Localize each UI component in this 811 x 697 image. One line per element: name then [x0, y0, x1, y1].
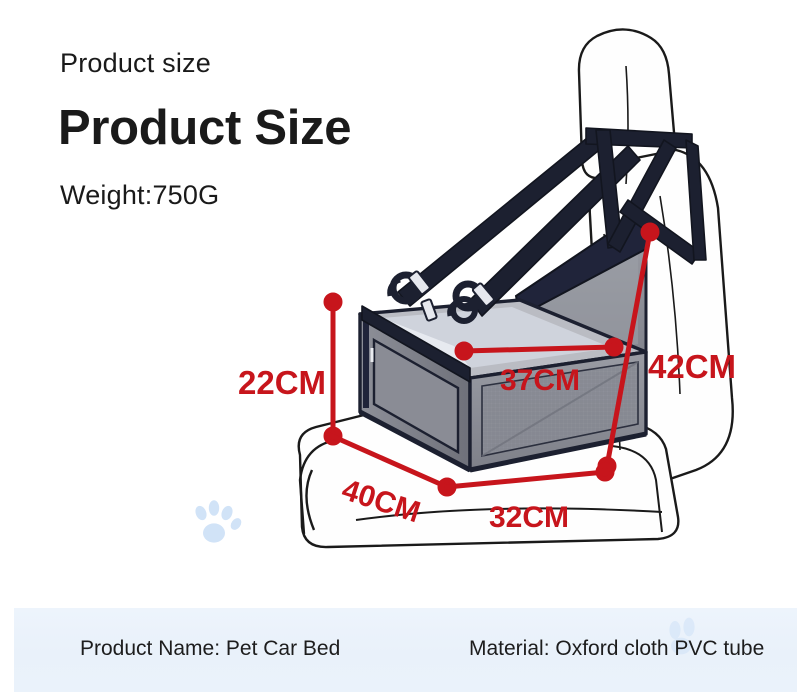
dim-dot-37-left: [457, 344, 471, 358]
dim-label-32: 32CM: [489, 501, 569, 534]
car-seat-drawing: [299, 29, 733, 547]
product-size-infographic: Product size Product Size Weight:750G: [0, 0, 811, 697]
dim-label-37: 37CM: [500, 364, 580, 397]
dim-dot-22-top: [326, 295, 340, 309]
footer-bar: Product Name: Pet Car Bed Material: Oxfo…: [14, 608, 797, 692]
paw-print-watermark: [193, 500, 243, 542]
footer-material: Material: Oxford cloth PVC tube: [469, 637, 764, 661]
dim-dot-32-right: [598, 465, 612, 479]
footer-product-name: Product Name: Pet Car Bed: [80, 637, 340, 661]
dim-label-42: 42CM: [648, 348, 736, 385]
dim-dot-37-right: [607, 340, 621, 354]
dim-dot-42-top: [643, 225, 657, 239]
dim-label-22: 22CM: [238, 364, 326, 401]
product-illustration: 22CM 37CM 42CM 40CM 32CM: [0, 0, 811, 697]
